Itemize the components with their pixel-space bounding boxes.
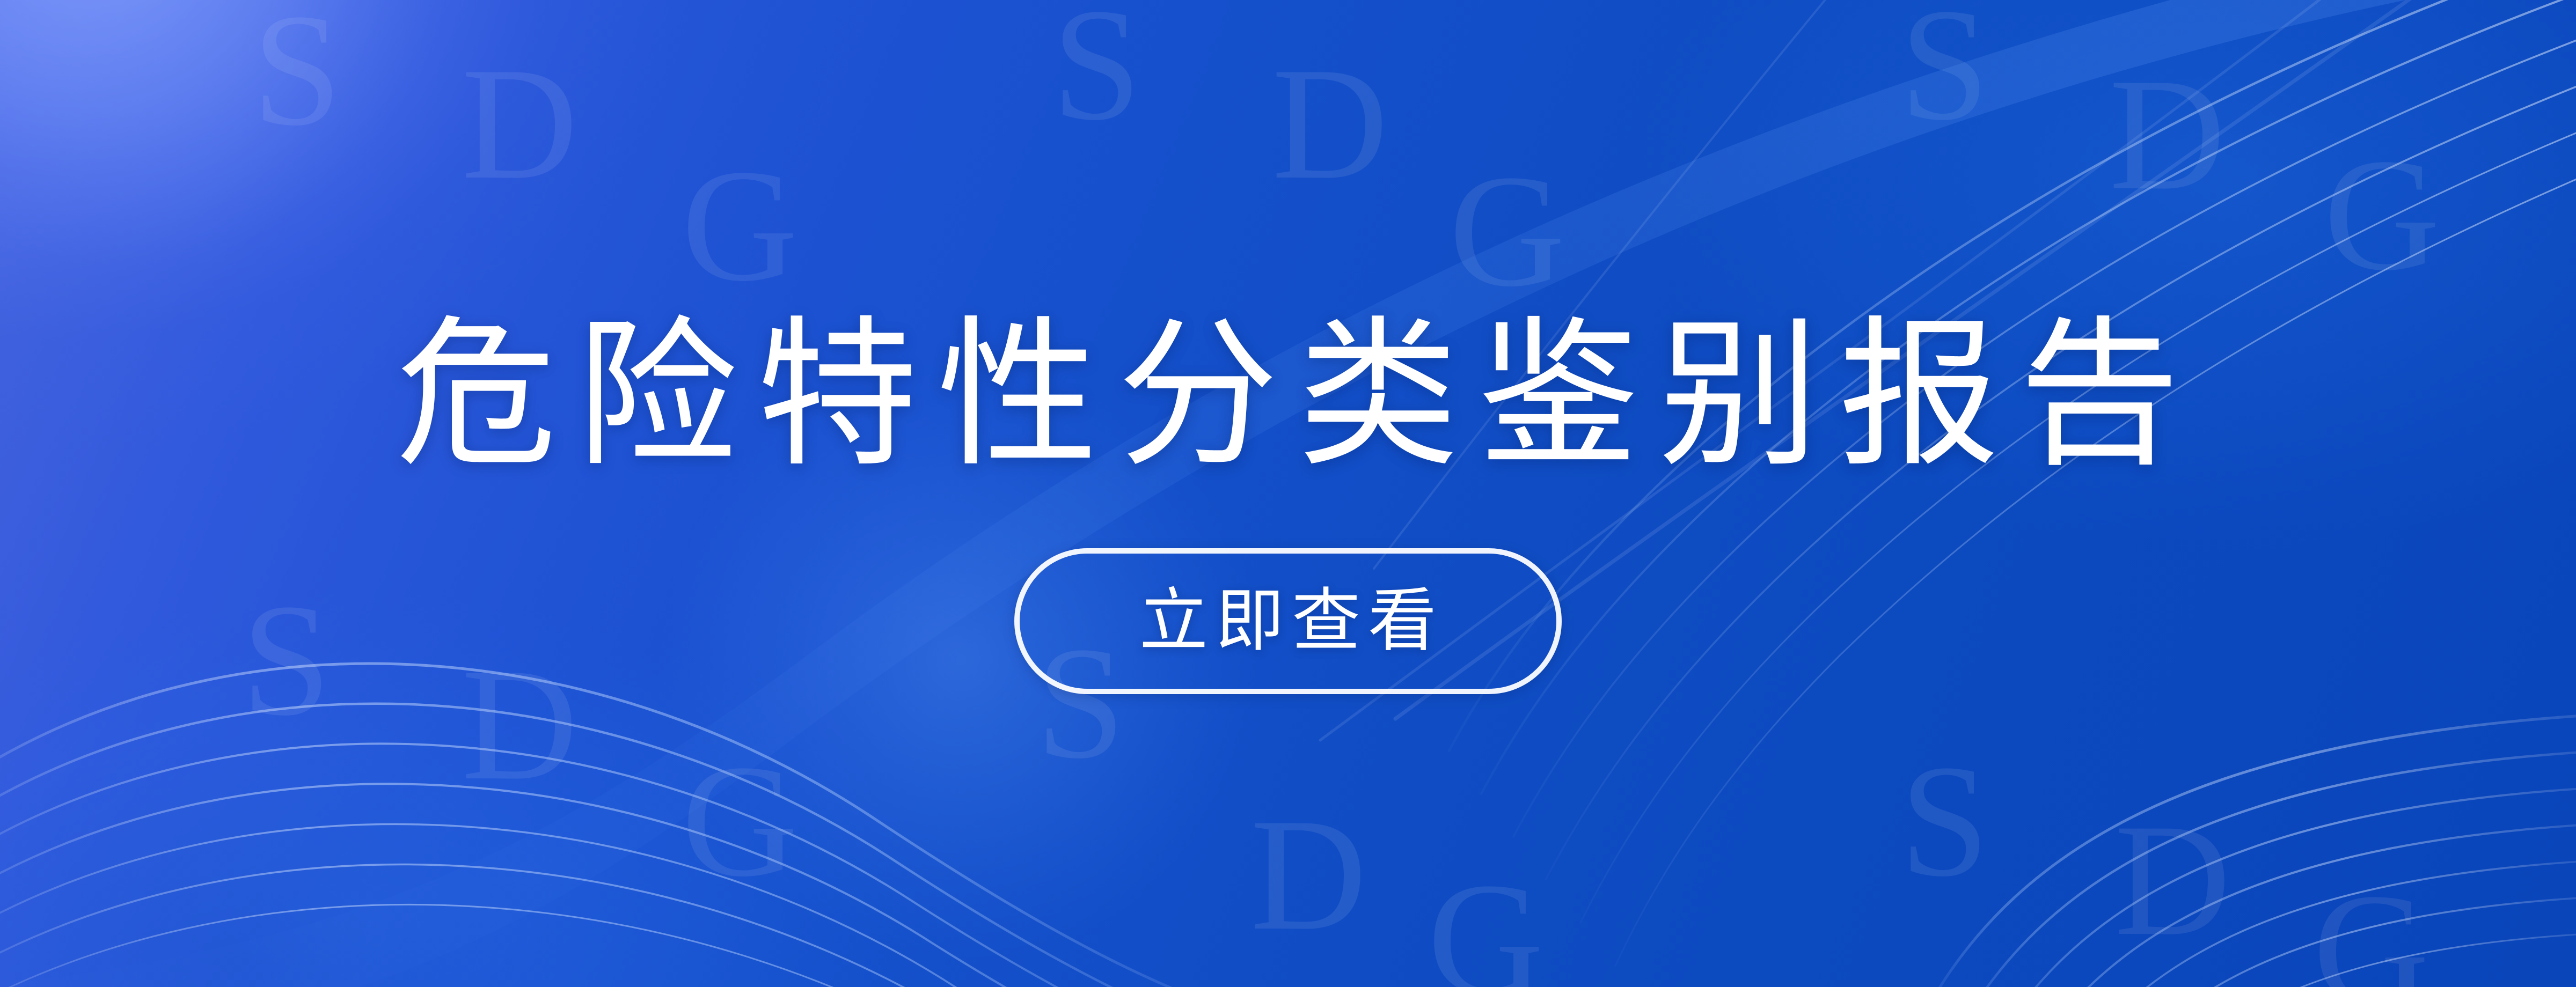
page-title: 危险特性分类鉴别报告 [377, 314, 2199, 475]
banner-content: 危险特性分类鉴别报告 立即查看 [0, 0, 2576, 987]
view-now-button[interactable]: 立即查看 [1014, 548, 1562, 694]
cta-container: 立即查看 [1014, 548, 1562, 694]
promo-banner: S D G S D G S D G S D G S D G S D G [0, 0, 2576, 987]
